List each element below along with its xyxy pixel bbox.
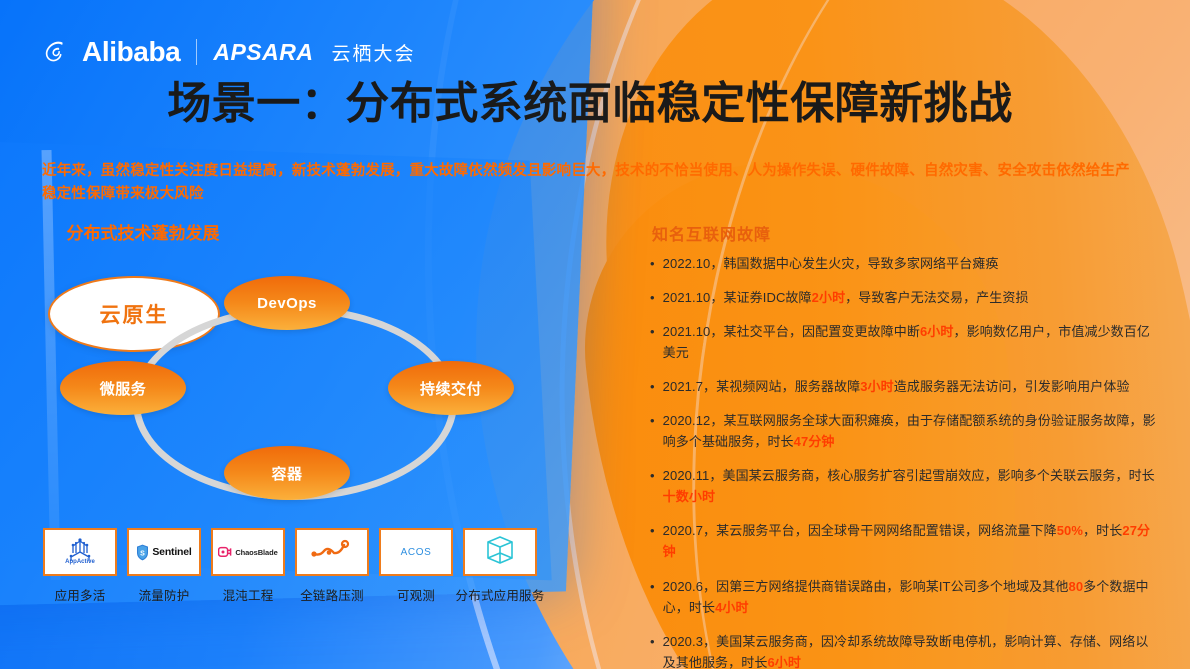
incident-item: •2020.7，某云服务平台，因全球骨干网网络配置错误，网络流量下降50%，时长… [650, 520, 1158, 562]
product-card-box[interactable] [463, 528, 537, 576]
incident-text: 2021.10，某证券IDC故障2小时，导致客户无法交易，产生资损 [663, 287, 1158, 308]
product-card-label: 应用多活 [55, 585, 106, 604]
slide-title: 场景一：分布式系统面临稳定性保障新挑战 [120, 80, 1060, 128]
incident-highlight: 4小时 [715, 600, 749, 615]
product-card-sentinel[interactable]: S Sentinel 流量防护 [128, 528, 200, 604]
sentinel-wordmark: Sentinel [152, 546, 191, 558]
incident-text: 2020.11，美国某云服务商，核心服务扩容引起雪崩效应，影响多个关联云服务，时… [663, 465, 1158, 507]
incident-item: •2021.10，某社交平台，因配置变更故障中断6小时，影响数亿用户，市值减少数… [650, 321, 1158, 363]
incident-text-run: 2022.10，韩国数据中心发生火灾，导致多家网络平台瘫痪 [663, 256, 999, 271]
product-card-edas[interactable]: 分布式应用服务 [464, 528, 536, 604]
product-card-box[interactable]: ChaosBlade [211, 528, 285, 576]
incident-item: •2020.11，美国某云服务商，核心服务扩容引起雪崩效应，影响多个关联云服务，… [650, 465, 1158, 507]
bullet-marker-icon: • [650, 287, 655, 308]
product-card-label: 分布式应用服务 [456, 585, 545, 604]
brand-logo-bar: Alibaba APSARA 云栖大会 [40, 36, 415, 68]
bullet-marker-icon: • [650, 376, 655, 397]
incident-text-run: 2021.10，某证券IDC故障 [663, 290, 812, 305]
incidents-list: •2022.10，韩国数据中心发生火灾，导致多家网络平台瘫痪•2021.10，某… [650, 253, 1158, 669]
product-card-pts[interactable]: 全链路压测 [296, 528, 368, 604]
acos-logo-icon: ACOS [401, 547, 432, 558]
alibaba-logo-icon [40, 38, 70, 66]
bullet-marker-icon: • [650, 631, 655, 669]
incident-item: •2021.7，某视频网站，服务器故障3小时造成服务器无法访问，引发影响用户体验 [650, 376, 1158, 397]
product-card-box[interactable]: S Sentinel [127, 528, 201, 576]
incident-text: 2020.12，某互联网服务全球大面积瘫痪，由于存储配额系统的身份验证服务故障，… [663, 410, 1158, 452]
incident-text: 2022.10，韩国数据中心发生火灾，导致多家网络平台瘫痪 [663, 253, 1158, 274]
event-name-en: APSARA [213, 39, 313, 66]
product-card-label: 混沌工程 [223, 585, 274, 604]
incident-item: •2021.10，某证券IDC故障2小时，导致客户无法交易，产生资损 [650, 287, 1158, 308]
incident-highlight: 十数小时 [663, 489, 715, 504]
diagram-node-devops[interactable]: DevOps [224, 276, 350, 330]
incident-item: •2020.3，美国某云服务商，因冷却系统故障导致断电停机，影响计算、存储、网络… [650, 631, 1158, 669]
product-card-box[interactable]: AppActive [43, 528, 117, 576]
bullet-marker-icon: • [650, 321, 655, 363]
incident-text-run: 2021.7，某视频网站，服务器故障 [663, 379, 861, 394]
product-card-label: 可观测 [397, 585, 435, 604]
svg-text:S: S [141, 550, 146, 557]
left-section-heading: 分布式技术蓬勃发展 [48, 222, 238, 247]
incident-text-run: 2021.10，某社交平台，因配置变更故障中断 [663, 324, 920, 339]
incident-highlight: 47分钟 [794, 434, 835, 449]
product-card-row: AppActive 应用多活 S Sentinel 流量防护 [44, 528, 536, 604]
incident-text-run: 2020.7，某云服务平台，因全球骨干网网络配置错误，网络流量下降 [663, 523, 1057, 538]
incident-highlight: 3小时 [860, 379, 894, 394]
incident-highlight: 80 [1068, 579, 1083, 594]
incident-text: 2021.7，某视频网站，服务器故障3小时造成服务器无法访问，引发影响用户体验 [663, 376, 1158, 397]
incident-text-run: ，导致客户无法交易，产生资损 [845, 290, 1028, 305]
incident-text: 2020.7，某云服务平台，因全球骨干网网络配置错误，网络流量下降50%，时长2… [663, 520, 1158, 562]
incident-item: •2020.6，因第三方网络提供商错误路由，影响某IT公司多个地域及其他80多个… [650, 576, 1158, 618]
pts-wave-icon [310, 538, 354, 567]
cloud-native-diagram: DevOps 微服务 持续交付 容器 云原生 [48, 276, 518, 516]
product-card-box[interactable] [295, 528, 369, 576]
chaosblade-logo-icon: ChaosBlade [218, 546, 277, 558]
logo-divider [196, 39, 197, 65]
svg-text:AppActive: AppActive [65, 559, 95, 565]
product-card-label: 流量防护 [139, 585, 190, 604]
product-card-label: 全链路压测 [300, 585, 364, 604]
incident-text: 2020.3，美国某云服务商，因冷却系统故障导致断电停机，影响计算、存储、网络以… [663, 631, 1158, 669]
incident-text-run: ，时长 [1083, 523, 1122, 538]
incident-text: 2021.10，某社交平台，因配置变更故障中断6小时，影响数亿用户，市值减少数百… [663, 321, 1158, 363]
incidents-heading: 知名互联网故障 [652, 221, 771, 245]
event-name-cn: 云栖大会 [331, 39, 415, 66]
bullet-marker-icon: • [650, 520, 655, 562]
incident-text-run: 造成服务器无法访问，引发影响用户体验 [894, 379, 1130, 394]
diagram-node-continuous-delivery[interactable]: 持续交付 [388, 361, 514, 415]
incident-highlight: 2小时 [812, 290, 846, 305]
appactive-logo-icon: AppActive [60, 535, 100, 570]
bullet-marker-icon: • [650, 576, 655, 618]
incident-text-run: 2020.12，某互联网服务全球大面积瘫痪，由于存储配额系统的身份验证服务故障，… [663, 413, 1156, 449]
incident-highlight: 50% [1057, 523, 1083, 538]
incident-text-run: 2020.3，美国某云服务商，因冷却系统故障导致断电停机，影响计算、存储、网络以… [663, 634, 1149, 669]
product-card-chaosblade[interactable]: ChaosBlade 混沌工程 [212, 528, 284, 604]
diagram-node-container[interactable]: 容器 [224, 446, 350, 500]
incident-text-run: 2020.11，美国某云服务商，核心服务扩容引起雪崩效应，影响多个关联云服务，时… [663, 468, 1155, 483]
incident-text: 2020.6，因第三方网络提供商错误路由，影响某IT公司多个地域及其他80多个数… [663, 576, 1158, 618]
bullet-marker-icon: • [650, 465, 655, 507]
edas-cube-icon [486, 535, 514, 570]
slide-canvas: Alibaba APSARA 云栖大会 场景一：分布式系统面临稳定性保障新挑战 … [0, 0, 1190, 669]
incident-item: •2020.12，某互联网服务全球大面积瘫痪，由于存储配额系统的身份验证服务故障… [650, 410, 1158, 452]
incident-highlight: 6小时 [767, 655, 801, 669]
product-card-appactive[interactable]: AppActive 应用多活 [44, 528, 116, 604]
sentinel-logo-icon: S Sentinel [136, 544, 191, 561]
incident-highlight: 6小时 [920, 324, 954, 339]
bullet-marker-icon: • [650, 253, 655, 274]
diagram-node-microservices[interactable]: 微服务 [60, 361, 186, 415]
chaosblade-wordmark: ChaosBlade [235, 548, 277, 557]
incident-item: •2022.10，韩国数据中心发生火灾，导致多家网络平台瘫痪 [650, 253, 1158, 274]
slide-lead-paragraph: 近年来，虽然稳定性关注度日益提高，新技术蓬勃发展，重大故障依然频发且影响巨大，技… [42, 160, 1142, 206]
incident-text-run: 2020.6，因第三方网络提供商错误路由，影响某IT公司多个地域及其他 [663, 579, 1069, 594]
product-card-acos[interactable]: ACOS 可观测 [380, 528, 452, 604]
bullet-marker-icon: • [650, 410, 655, 452]
brand-name: Alibaba [82, 36, 180, 68]
product-card-box[interactable]: ACOS [379, 528, 453, 576]
